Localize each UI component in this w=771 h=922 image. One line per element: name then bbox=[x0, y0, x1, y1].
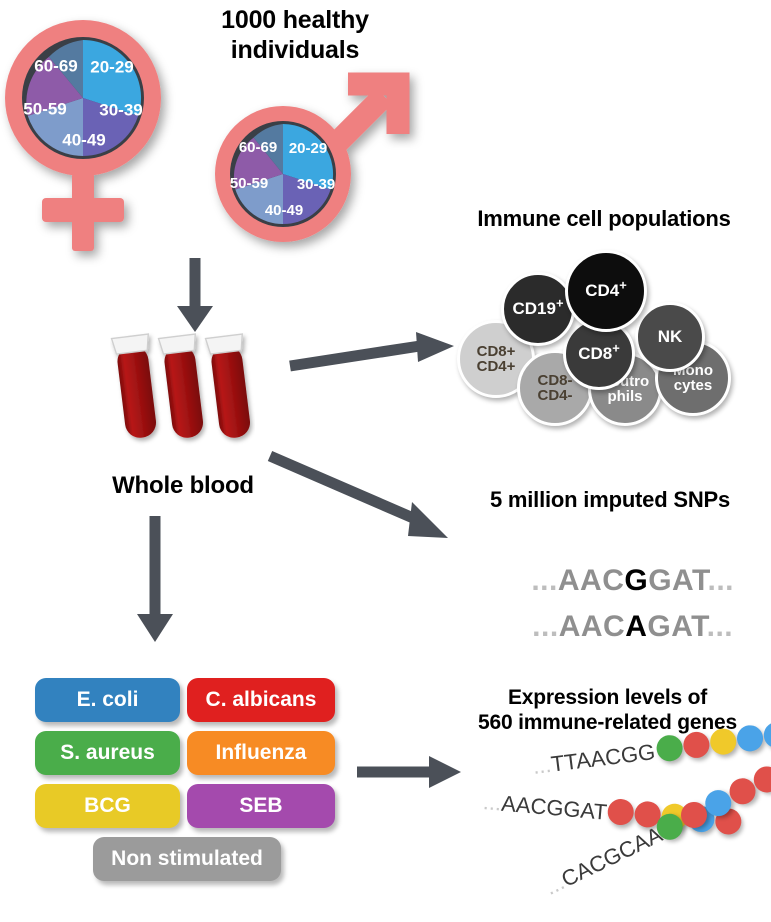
expression-title-line1: Expression levels of bbox=[450, 686, 765, 711]
pie-label-60-69: 60-69 bbox=[239, 139, 277, 156]
immune-cell-label: CD8+ bbox=[578, 345, 620, 362]
gene-strand-bases: CACGCAA bbox=[557, 822, 666, 892]
immune-cell-cd4: CD4+ bbox=[565, 250, 647, 332]
stimulation-label: BCG bbox=[84, 794, 131, 818]
snp-sequences: ...AACGGAT... ...AACAGAT... bbox=[470, 530, 760, 620]
male-symbol: 20-29 30-39 40-49 50-59 60-69 bbox=[198, 70, 428, 260]
gene-strand-sequence: ...AACGGAT bbox=[482, 789, 608, 826]
pie-label-40-49: 40-49 bbox=[62, 130, 105, 149]
pie-label-30-39: 30-39 bbox=[297, 176, 335, 193]
gene-bead bbox=[606, 798, 634, 826]
gene-strand-bases: AACGGAT bbox=[500, 791, 608, 825]
stimulation-influenza[interactable]: Influenza bbox=[187, 731, 335, 775]
immune-cell-label: NK bbox=[658, 328, 683, 345]
stimulation-s-aureus[interactable]: S. aureus bbox=[35, 731, 180, 775]
immune-cell-cd19: CD19+ bbox=[501, 272, 575, 346]
cohort-title: 1000 healthy individuals bbox=[170, 6, 420, 65]
whole-blood-label: Whole blood bbox=[78, 472, 288, 500]
cohort-title-line1: 1000 healthy bbox=[170, 6, 420, 36]
pie-label-50-59: 50-59 bbox=[23, 99, 66, 118]
arrow-stimulations-to-expression bbox=[355, 752, 465, 792]
snp-row2-suffix: ... bbox=[707, 610, 734, 643]
immune-cell-label: CD19+ bbox=[512, 300, 563, 317]
arrow-cohort-to-blood bbox=[170, 258, 220, 334]
tube-3 bbox=[206, 334, 255, 440]
stimulation-e-coli[interactable]: E. coli bbox=[35, 678, 180, 722]
arrow-blood-to-immune bbox=[288, 330, 458, 385]
whole-blood-tubes bbox=[110, 330, 255, 455]
tube-1 bbox=[112, 334, 161, 440]
arrow-blood-to-stimulations bbox=[130, 516, 180, 644]
pie-label-50-59: 50-59 bbox=[230, 175, 268, 192]
gene-bead bbox=[655, 734, 684, 763]
pie-label-30-39: 30-39 bbox=[99, 100, 142, 119]
stimulation-bcg[interactable]: BCG bbox=[35, 784, 180, 828]
gene-strand-sequence: ...CACGCAA bbox=[541, 822, 667, 901]
snp-row2-suffix-body: GAT bbox=[647, 610, 706, 643]
snp-row2-body: AAC bbox=[559, 610, 626, 643]
snp-sequence-row-2: ...AACAGAT... bbox=[470, 576, 760, 678]
stimulation-label: C. albicans bbox=[206, 688, 317, 712]
gene-strand-sequence: ...TTAACGG bbox=[531, 739, 656, 780]
pie-label-60-69: 60-69 bbox=[34, 56, 77, 75]
stimulation-label: E. coli bbox=[77, 688, 139, 712]
pie-label-40-49: 40-49 bbox=[265, 202, 303, 219]
stimulation-c-albicans[interactable]: C. albicans bbox=[187, 678, 335, 722]
stimulation-non-stimulated[interactable]: Non stimulated bbox=[93, 837, 281, 881]
immune-cell-label: CD8-CD4- bbox=[537, 373, 572, 404]
snp-row2-prefix: ... bbox=[532, 610, 559, 643]
immune-cell-nk: NK bbox=[635, 302, 705, 372]
immune-cell-label: CD8+CD4+ bbox=[477, 344, 516, 375]
immune-cell-cluster: CD4+CD19+CD8+NKMonocytesNeutrophilsCD8-C… bbox=[455, 240, 755, 425]
immune-cell-label: CD4+ bbox=[585, 282, 627, 299]
stimulation-label: Non stimulated bbox=[111, 847, 263, 871]
stimulation-label: S. aureus bbox=[60, 741, 155, 765]
gene-strand-bases: TTAACGG bbox=[550, 739, 657, 777]
snps-title: 5 million imputed SNPs bbox=[455, 487, 765, 513]
gene-expression-strands: ...TTAACGG...AACGGAT...CACGCAA bbox=[455, 740, 765, 915]
stimulation-label: Influenza bbox=[215, 741, 306, 765]
cohort-title-line2: individuals bbox=[170, 36, 420, 66]
pie-label-20-29: 20-29 bbox=[289, 140, 327, 157]
arrow-blood-to-snps bbox=[268, 448, 458, 548]
snp-row2-variant: A bbox=[625, 610, 647, 643]
stimulation-seb[interactable]: SEB bbox=[187, 784, 335, 828]
tube-2 bbox=[159, 334, 208, 440]
immune-cell-populations-title: Immune cell populations bbox=[448, 206, 760, 232]
expression-title: Expression levels of 560 immune-related … bbox=[450, 686, 765, 736]
pie-label-20-29: 20-29 bbox=[90, 57, 133, 76]
stimulation-label: SEB bbox=[239, 794, 282, 818]
